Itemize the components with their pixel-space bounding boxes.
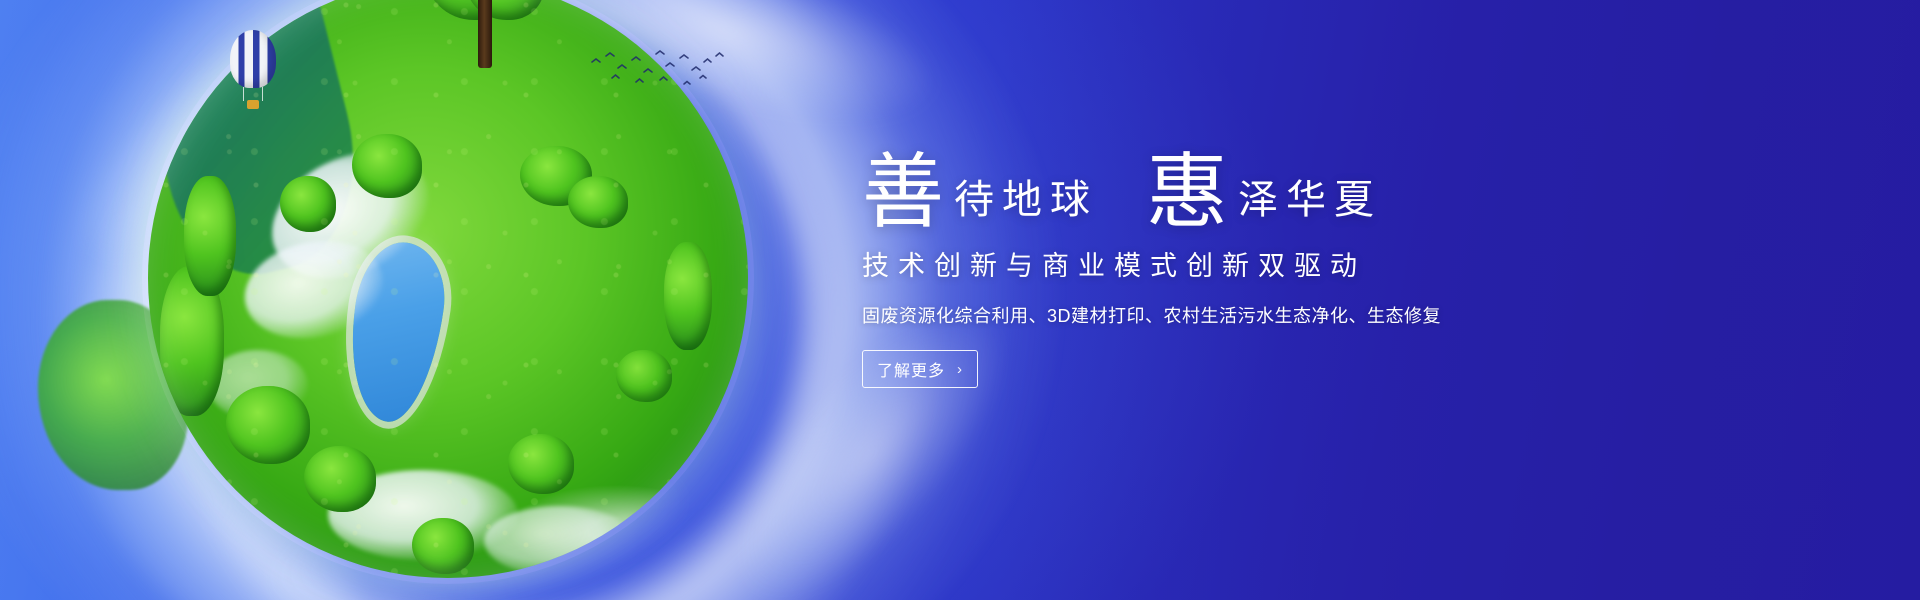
headline-part1-small: 待地球 (954, 180, 1098, 230)
learn-more-label: 了解更多 (877, 357, 945, 381)
headline-part2-small: 泽华夏 (1238, 180, 1382, 230)
hero-banner: 善 待地球 惠 泽华夏 技术创新与商业模式创新双驱动 固废资源化综合利用、3D建… (0, 0, 1920, 600)
chevron-right-icon: › (957, 362, 963, 377)
hero-subtitle: 技术创新与商业模式创新双驱动 (862, 244, 1562, 283)
headline-part2-large: 惠 (1146, 156, 1228, 230)
learn-more-button[interactable]: 了解更多 › (862, 350, 978, 388)
hero-description: 固废资源化综合利用、3D建材打印、农村生活污水生态净化、生态修复 (862, 302, 1562, 328)
hero-content: 善 待地球 惠 泽华夏 技术创新与商业模式创新双驱动 固废资源化综合利用、3D建… (862, 122, 1562, 388)
headline-part1-large: 善 (862, 156, 944, 230)
page-title: 善 待地球 惠 泽华夏 (862, 122, 1562, 230)
